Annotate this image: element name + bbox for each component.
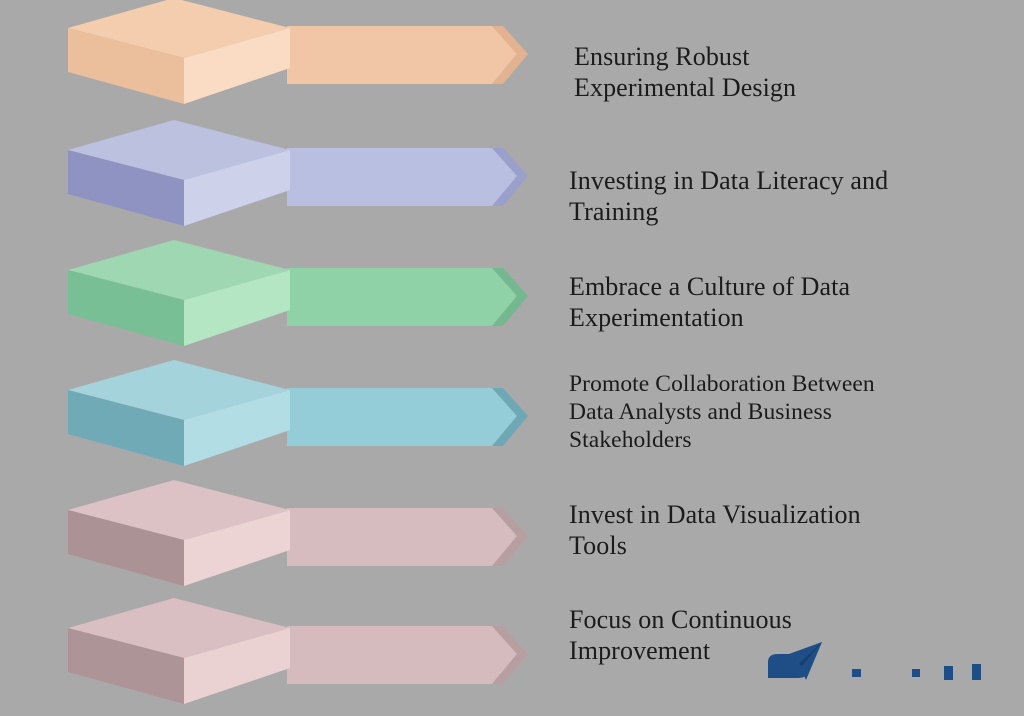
infographic-canvas: Ensuring Robust Experimental DesignInves… <box>0 0 1024 680</box>
infographic-label-5: Invest in Data Visualization Tools <box>569 500 989 561</box>
arrow-tail <box>287 148 517 206</box>
arrow-tail <box>287 508 517 566</box>
block-arrow-graphic <box>62 238 552 358</box>
block-arrow-graphic <box>62 118 552 238</box>
infographic-label-1: Ensuring Robust Experimental Design <box>574 42 994 103</box>
isometric-block-3 <box>62 238 552 358</box>
block-arrow-graphic <box>62 596 552 716</box>
isometric-block-1 <box>62 0 552 116</box>
infographic-label-3: Embrace a Culture of Data Experimentatio… <box>569 272 989 333</box>
isometric-block-2 <box>62 118 552 238</box>
block-arrow-graphic <box>62 478 552 598</box>
infographic-label-4: Promote Collaboration Between Data Analy… <box>569 370 989 455</box>
block-arrow-graphic <box>62 0 552 116</box>
brand-logo <box>766 636 1024 680</box>
isometric-block-5 <box>62 478 552 598</box>
arrow-tail <box>287 626 517 684</box>
infographic-label-2: Investing in Data Literacy and Training <box>569 166 989 227</box>
arrow-tail <box>287 388 517 446</box>
brand-logo-mark <box>766 636 1024 680</box>
arrow-tail <box>287 268 517 326</box>
block-arrow-graphic <box>62 358 552 478</box>
isometric-block-6 <box>62 596 552 716</box>
arrow-tail <box>287 26 517 84</box>
isometric-block-4 <box>62 358 552 478</box>
